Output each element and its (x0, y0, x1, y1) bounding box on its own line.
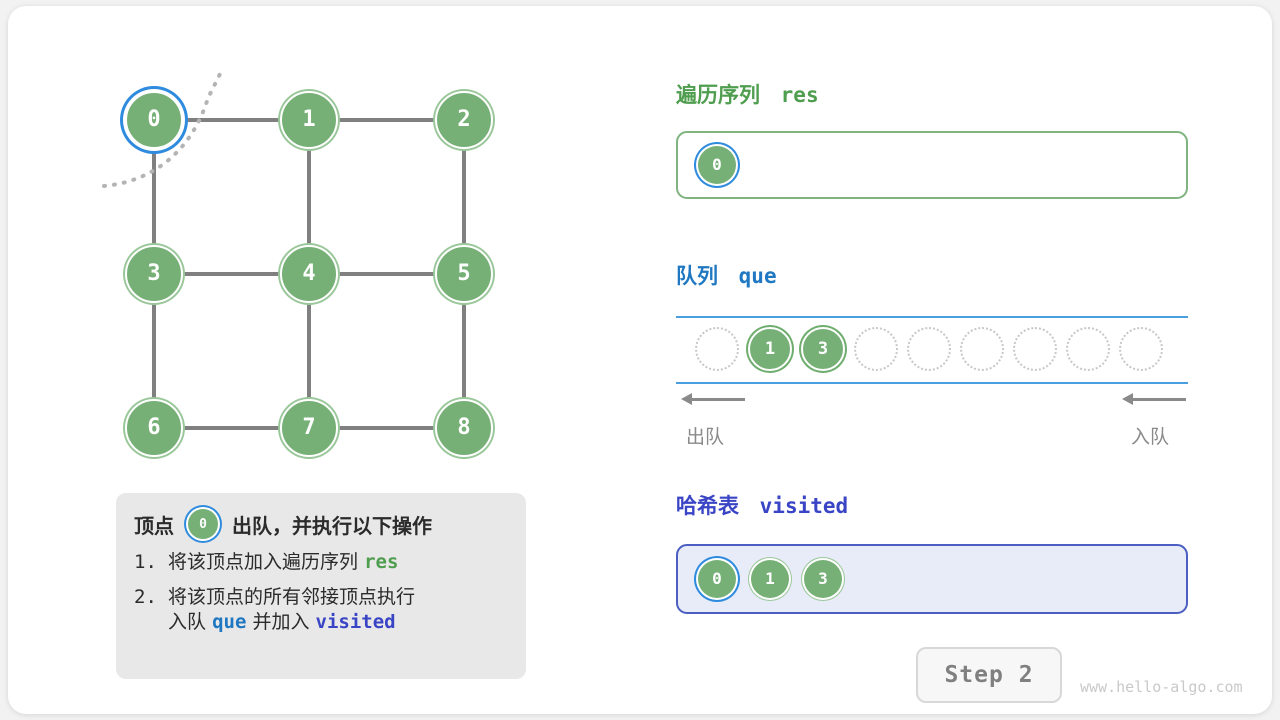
caption-vertex-node: 0 (188, 509, 218, 539)
graph-node-4-label: 4 (302, 263, 315, 285)
caption-step-1-body: 将该顶点加入遍历序列 res (168, 550, 398, 574)
graph-node-2-label: 2 (457, 109, 470, 131)
graph-node-8[interactable]: 8 (435, 399, 493, 457)
queue-panel-title: 队列 que (676, 260, 777, 290)
queue-panel-title-cn: 队列 (676, 264, 718, 288)
caption-head-prefix: 顶点 (134, 510, 174, 539)
graph-node-5[interactable]: 5 (435, 245, 493, 303)
queue-slot-1[interactable]: 1 (748, 327, 792, 371)
queue-slot-5[interactable] (960, 327, 1004, 371)
dequeue-label: 出队 (686, 422, 724, 449)
caption-step-2: 2. 将该顶点的所有邻接顶点执行 入队 que 并加入 visited (134, 585, 508, 634)
visited-item-2-label: 3 (818, 571, 828, 587)
graph-node-6[interactable]: 6 (125, 399, 183, 457)
queue-slot-2[interactable]: 3 (801, 327, 845, 371)
graph-node-4[interactable]: 4 (280, 245, 338, 303)
queue-slot-4[interactable] (907, 327, 951, 371)
res-panel-title-cn: 遍历序列 (676, 83, 760, 107)
graph-node-0[interactable]: 0 (125, 91, 183, 149)
graph-node-7-label: 7 (302, 417, 315, 439)
res-container: 0 (676, 131, 1188, 199)
caption-step-2-var-que: que (212, 611, 246, 633)
queue-slot-1-label: 1 (765, 339, 775, 359)
queue-panel-title-var: que (739, 264, 777, 288)
queue-slot-2-label: 3 (818, 339, 828, 359)
visited-item-1-label: 1 (765, 571, 775, 587)
caption-step-2-var-visited: visited (316, 611, 396, 633)
visited-panel-title-cn: 哈希表 (676, 494, 739, 518)
caption-box: 顶点 0 出队，并执行以下操作 1. 将该顶点加入遍历序列 res 2. 将该顶… (116, 493, 526, 679)
queue-bottom-rule (676, 382, 1188, 384)
visited-item-0-label: 0 (712, 571, 722, 587)
caption-step-2-text-a: 将该顶点的所有邻接顶点执行 (168, 586, 415, 608)
graph-node-6-label: 6 (147, 417, 160, 439)
graph-node-1-label: 1 (302, 109, 315, 131)
step-badge: Step 2 (916, 647, 1062, 703)
res-item-0-label: 0 (712, 157, 722, 173)
caption-step-1: 1. 将该顶点加入遍历序列 res (134, 550, 508, 574)
queue-slot-6[interactable] (1013, 327, 1057, 371)
graph-node-3[interactable]: 3 (125, 245, 183, 303)
res-item-0[interactable]: 0 (698, 146, 736, 184)
graph-node-2[interactable]: 2 (435, 91, 493, 149)
graph-node-5-label: 5 (457, 263, 470, 285)
step-badge-label: Step 2 (944, 662, 1033, 688)
queue-slot-3[interactable] (854, 327, 898, 371)
queue-top-rule (676, 316, 1188, 318)
res-panel-title: 遍历序列 res (676, 79, 819, 109)
graph-node-0-label: 0 (147, 109, 160, 131)
caption-step-2-number: 2. (134, 585, 168, 634)
visited-container: 0 1 3 (676, 544, 1188, 614)
visited-item-1[interactable]: 1 (751, 560, 789, 598)
queue-slot-8[interactable] (1119, 327, 1163, 371)
content-card: 0 1 2 3 4 5 6 7 8 (8, 6, 1272, 714)
caption-head-suffix: 出队，并执行以下操作 (232, 510, 432, 539)
dequeue-arrow-icon (681, 392, 747, 406)
caption-step-2-text-b: 入队 (168, 611, 206, 633)
graph-node-7[interactable]: 7 (280, 399, 338, 457)
visited-item-2[interactable]: 3 (804, 560, 842, 598)
graph-diagram: 0 1 2 3 4 5 6 7 8 (8, 6, 608, 486)
visited-panel-title: 哈希表 visited (676, 490, 848, 520)
graph-node-1[interactable]: 1 (280, 91, 338, 149)
caption-headline: 顶点 0 出队，并执行以下操作 (134, 509, 508, 539)
screenshot-stage: 0 1 2 3 4 5 6 7 8 (0, 0, 1280, 720)
caption-step-2-text-c: 并加入 (252, 611, 309, 633)
caption-step-1-var-res: res (364, 551, 398, 573)
enqueue-arrow-icon (1122, 392, 1188, 406)
watermark-text: www.hello-algo.com (1080, 678, 1243, 696)
caption-step-1-number: 1. (134, 550, 168, 574)
graph-node-3-label: 3 (147, 263, 160, 285)
enqueue-label: 入队 (1131, 422, 1169, 449)
queue-slot-0[interactable] (695, 327, 739, 371)
caption-step-1-text: 将该顶点加入遍历序列 (168, 551, 358, 573)
res-panel-title-var: res (781, 83, 819, 107)
caption-vertex-node-label: 0 (199, 517, 207, 532)
queue-slot-7[interactable] (1066, 327, 1110, 371)
graph-node-8-label: 8 (457, 417, 470, 439)
caption-step-2-body: 将该顶点的所有邻接顶点执行 入队 que 并加入 visited (168, 585, 415, 634)
visited-panel-title-var: visited (760, 494, 849, 518)
visited-item-0[interactable]: 0 (698, 560, 736, 598)
